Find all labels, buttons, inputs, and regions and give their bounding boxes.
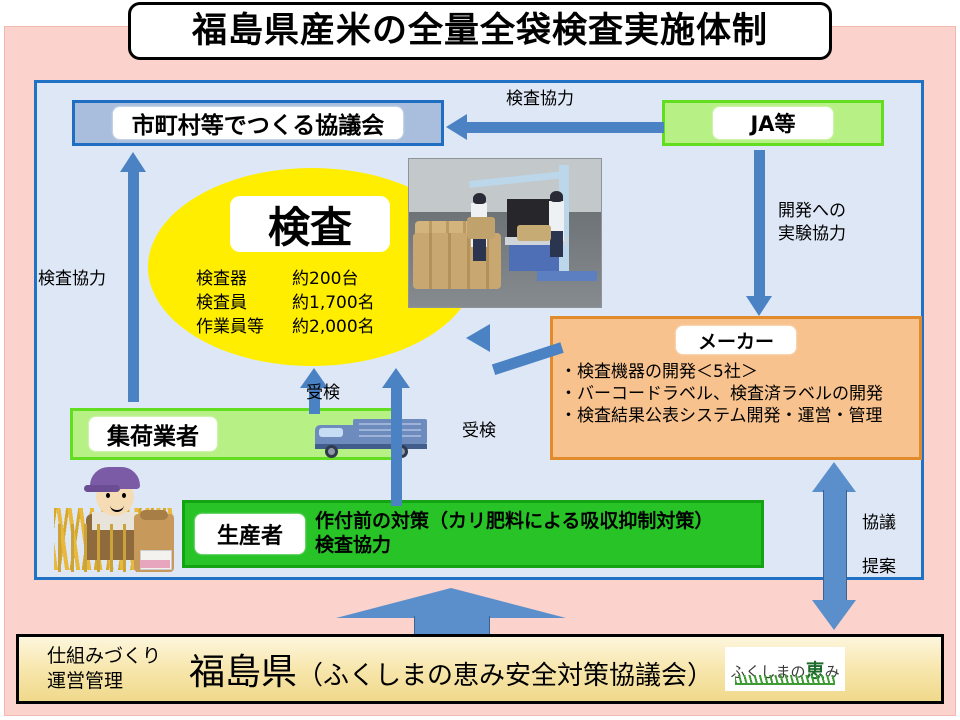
inspection-stat-key: 検査員 [196, 292, 292, 316]
prefecture-role: 仕組みづくり 運営管理 [47, 644, 161, 693]
producer-measure-line: 検査協力 [315, 534, 713, 558]
arrow-up-to-municipality [120, 152, 146, 402]
node-maker[interactable]: メーカー ・検査機器の開発＜5社＞ ・バーコードラベル、検査済ラベルの開発 ・検… [550, 316, 922, 460]
inspection-stat-value: 約1,700名 [292, 292, 375, 316]
node-collector[interactable]: 集荷業者 [70, 408, 400, 460]
prefecture-name-group: 福島県 （ ふくしまの恵み安全対策協議会 ） [189, 643, 713, 695]
label-development-line1: 開発への [778, 200, 846, 223]
inspection-stat-value: 約200台 [292, 268, 358, 292]
producer-label: 生産者 [195, 514, 305, 554]
logo-grass-icon [735, 675, 835, 685]
inspection-stat-row: 作業員等 約2,000名 [196, 316, 375, 340]
label-juken-producer: 受検 [462, 420, 496, 443]
label-inspection-cooperation-top: 検査協力 [506, 88, 574, 111]
truck-icon [311, 417, 431, 457]
ja-label: JA等 [713, 107, 833, 139]
label-juken-collector: 受検 [306, 382, 340, 405]
paren-close: ） [687, 655, 713, 692]
prefecture-role-line2: 運営管理 [47, 669, 161, 694]
inspection-stat-row: 検査器 約200台 [196, 268, 375, 292]
inspection-stat-key: 検査器 [196, 268, 292, 292]
inspection-stat-key: 作業員等 [196, 316, 292, 340]
node-municipality-council[interactable]: 市町村等でつくる協議会 [72, 100, 444, 146]
maker-bullet-list: ・検査機器の開発＜5社＞ ・バーコードラベル、検査済ラベルの開発 ・検査結果公表… [553, 361, 919, 427]
prefecture-name: 福島県 [189, 643, 297, 695]
inspection-facility-photo [408, 158, 602, 308]
fukushima-megumi-logo: ふくしまの恵み [725, 647, 845, 691]
page-title: 福島県産米の全量全袋検査実施体制 [128, 2, 832, 60]
arrow-producer-to-inspection [382, 368, 410, 504]
label-inspection-cooperation-left: 検査協力 [38, 268, 106, 291]
label-consultation: 協議 [862, 512, 896, 535]
arrow-double-prefecture-maker [812, 462, 856, 630]
producer-measure-line: 作付前の対策（カリ肥料による吸収抑制対策） [315, 510, 713, 534]
collector-label: 集荷業者 [89, 417, 217, 451]
arrow-ja-to-municipality [446, 114, 664, 140]
label-development-line2: 実験協力 [778, 223, 846, 246]
maker-title: メーカー [676, 326, 796, 354]
inspection-title: 検査 [230, 196, 390, 252]
page-title-text: 福島県産米の全量全袋検査実施体制 [192, 14, 768, 49]
municipality-council-label: 市町村等でつくる協議会 [113, 107, 403, 139]
arrow-ja-to-maker [746, 150, 772, 316]
maker-bullet-item: ・検査結果公表システム開発・運営・管理 [560, 405, 919, 427]
diagram-root: 検査 検査器 約200台 検査員 約1,700名 作業員等 約2,000名 市町… [0, 0, 960, 720]
maker-bullet-item: ・バーコードラベル、検査済ラベルの開発 [560, 383, 919, 405]
paren-open: （ [297, 655, 323, 692]
prefecture-bar[interactable]: 仕組みづくり 運営管理 福島県 （ ふくしまの恵み安全対策協議会 ） ふくしまの… [16, 634, 944, 704]
label-proposal: 提案 [862, 556, 896, 579]
inspection-stat-value: 約2,000名 [292, 316, 375, 340]
arrow-maker-to-inspection [466, 316, 562, 362]
producer-measures: 作付前の対策（カリ肥料による吸収抑制対策） 検査協力 [315, 510, 713, 558]
node-producer[interactable]: 生産者 作付前の対策（カリ肥料による吸収抑制対策） 検査協力 [182, 500, 764, 568]
inspection-stat-row: 検査員 約1,700名 [196, 292, 375, 316]
maker-bullet-item: ・検査機器の開発＜5社＞ [560, 361, 919, 383]
node-ja[interactable]: JA等 [662, 100, 884, 146]
inspection-stats: 検査器 約200台 検査員 約1,700名 作業員等 約2,000名 [196, 268, 375, 339]
farmer-illustration [40, 462, 192, 576]
prefecture-role-line1: 仕組みづくり [47, 644, 161, 669]
label-development-experiment: 開発への 実験協力 [778, 200, 846, 246]
council-name: ふくしまの恵み安全対策協議会 [323, 655, 687, 692]
